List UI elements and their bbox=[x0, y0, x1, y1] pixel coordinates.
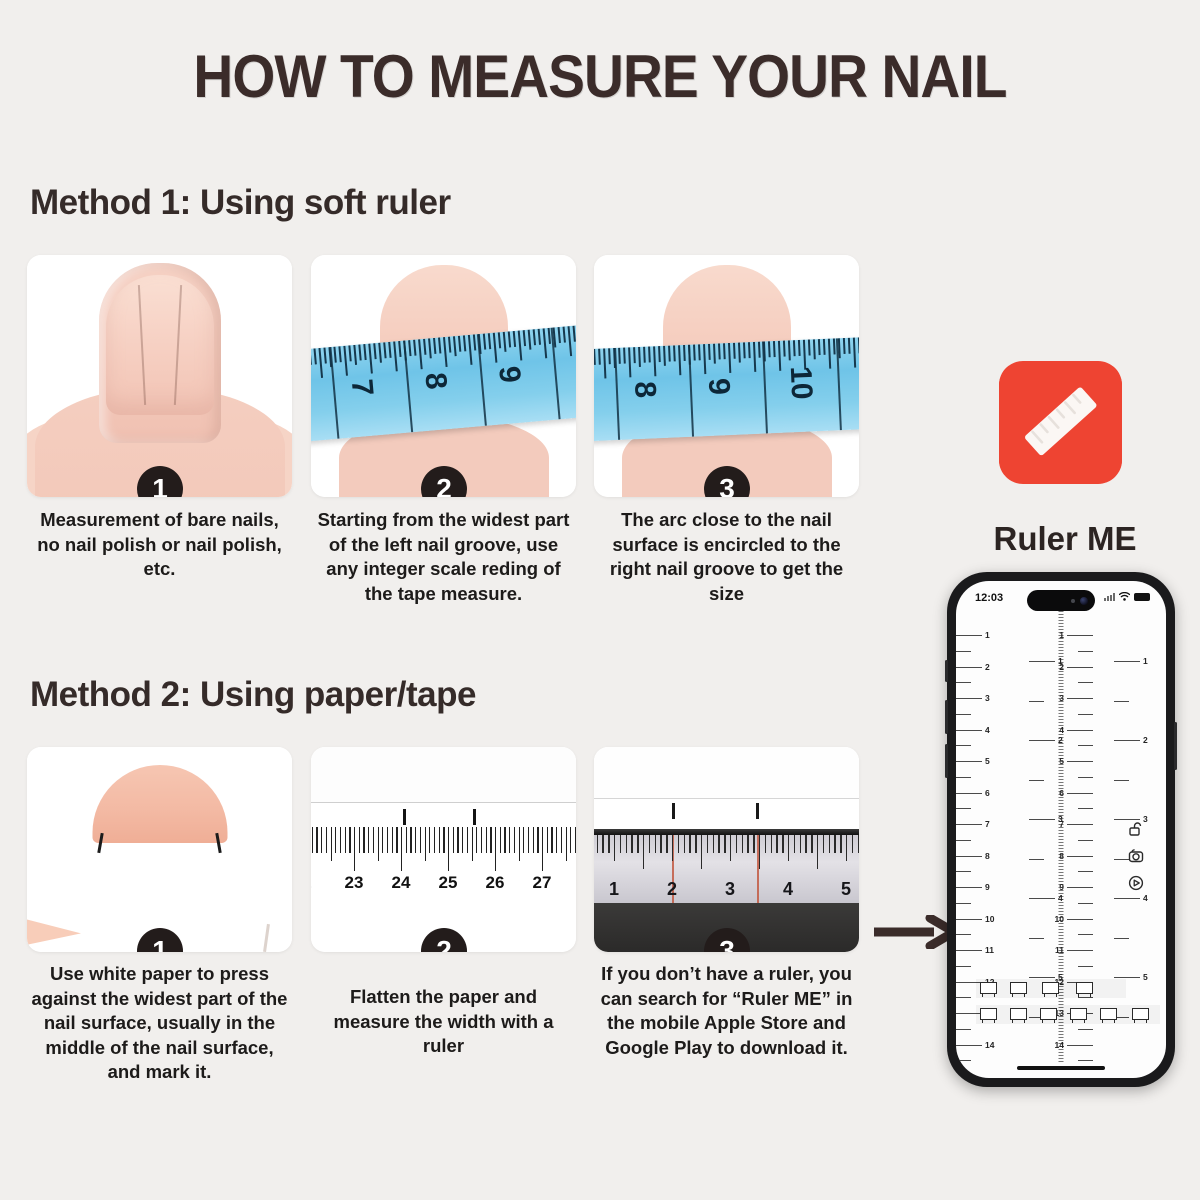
method-1-step-2-caption: Starting from the widest part of the lef… bbox=[311, 508, 576, 606]
nail-plate bbox=[106, 275, 214, 415]
phone-tool-icons bbox=[1128, 821, 1144, 891]
ruler-number: 23 bbox=[345, 873, 364, 893]
bare-nail-photo bbox=[27, 255, 292, 497]
tape-number: 11 bbox=[856, 363, 859, 396]
ruler-number: 1 bbox=[609, 879, 619, 900]
finger-corner bbox=[27, 918, 81, 946]
ruler-number: 4 bbox=[783, 879, 793, 900]
status-bar-time: 12:03 bbox=[975, 592, 1003, 604]
ruler-number: 7 bbox=[985, 819, 990, 829]
cellular-signal-icon bbox=[1104, 593, 1115, 601]
ruler-number: 3 bbox=[725, 879, 735, 900]
page-title: HOW TO MEASURE YOUR NAIL bbox=[48, 42, 1152, 111]
phone-mockup: 12:03 1234567891011121314 1234567891 bbox=[947, 572, 1175, 1087]
camera-icon[interactable] bbox=[1128, 848, 1144, 864]
paper-ruler-photo: 22324252627 bbox=[311, 747, 576, 952]
ruler-number: 9 bbox=[985, 882, 990, 892]
battery-icon bbox=[1134, 593, 1150, 601]
method-2-step-1-caption: Use white paper to press against the wid… bbox=[27, 962, 292, 1085]
ruler-number: 1 bbox=[1059, 630, 1064, 640]
ruler-number: 24 bbox=[392, 873, 411, 893]
ruler-number: 26 bbox=[486, 873, 505, 893]
ruler-number: 9 bbox=[1059, 882, 1064, 892]
tape-number: 7 bbox=[344, 378, 379, 398]
measurement-chip[interactable] bbox=[980, 1008, 997, 1020]
metal-ruler-photo: 12345 bbox=[594, 747, 859, 952]
ruler-number: 27 bbox=[533, 873, 552, 893]
tape-number: 10 bbox=[783, 366, 818, 401]
measurement-chip-row-2 bbox=[976, 1005, 1160, 1024]
measurement-chip[interactable] bbox=[1010, 982, 1027, 994]
ruler-number: 4 bbox=[1143, 893, 1148, 903]
tape-number: 9 bbox=[701, 377, 736, 395]
nail-on-paper-photo bbox=[27, 747, 292, 952]
front-camera-icon bbox=[1080, 597, 1088, 605]
method-1-step-3-caption: The arc close to the nail surface is enc… bbox=[594, 508, 859, 606]
paper-mark-right bbox=[473, 809, 476, 825]
ruler-me-app-icon[interactable] bbox=[993, 355, 1128, 490]
tape-number: 9 bbox=[491, 365, 526, 385]
ruler-number: 4 bbox=[1059, 725, 1064, 735]
ruler-number: 1 bbox=[1143, 656, 1148, 666]
ruler-number: 2 bbox=[985, 662, 990, 672]
ruler-number: 3 bbox=[985, 693, 990, 703]
finger-tip bbox=[99, 263, 221, 443]
ruler-number: 5 bbox=[841, 879, 851, 900]
phone-screen: 12:03 1234567891011121314 1234567891 bbox=[956, 581, 1166, 1078]
app-name-label: Ruler ME bbox=[960, 520, 1170, 558]
ruler-number: 3 bbox=[1059, 693, 1064, 703]
blue-tape-measure: 891011 bbox=[594, 337, 859, 442]
measurement-chip[interactable] bbox=[1010, 1008, 1027, 1020]
measurement-chip[interactable] bbox=[1076, 982, 1093, 994]
ruler-number: 1 bbox=[985, 630, 990, 640]
method-2-step-3-image: 12345 3 bbox=[594, 747, 859, 952]
method-2-step-3-caption: If you don’t have a ruler, you can searc… bbox=[594, 962, 859, 1060]
ruler-number: 5 bbox=[1143, 972, 1148, 982]
volume-down-button[interactable] bbox=[945, 744, 948, 778]
wifi-icon bbox=[1119, 592, 1130, 601]
paper-mark-right bbox=[756, 803, 759, 819]
method-1-step-3-image: 891011 3 bbox=[594, 255, 859, 497]
tape-measure-start-photo: 78910 bbox=[311, 255, 576, 497]
ruler-number: 2 bbox=[667, 879, 677, 900]
tape-number: 8 bbox=[417, 371, 452, 391]
nail-imprint bbox=[92, 765, 227, 843]
blue-tape-measure: 78910 bbox=[311, 324, 576, 442]
ruler-number: 8 bbox=[1059, 851, 1064, 861]
ruler-number: 6 bbox=[1059, 788, 1064, 798]
method-2-step-2-image: 22324252627 2 bbox=[311, 747, 576, 952]
play-icon[interactable] bbox=[1128, 875, 1144, 891]
measurement-chip[interactable] bbox=[1132, 1008, 1149, 1020]
ruler-number: 2 bbox=[1058, 735, 1063, 745]
measurement-chip[interactable] bbox=[1042, 982, 1059, 994]
ruler-number: 8 bbox=[985, 851, 990, 861]
method-1-step-1-image: 1 bbox=[27, 255, 292, 497]
ruler-number: 10 bbox=[985, 914, 994, 924]
ruler-number: 4 bbox=[1058, 893, 1063, 903]
measurement-chip-row-1 bbox=[976, 979, 1126, 998]
measurement-chip[interactable] bbox=[980, 982, 997, 994]
ruler-number: 2 bbox=[311, 873, 312, 893]
method-2-heading: Method 2: Using paper/tape bbox=[30, 675, 476, 715]
ruler-number: 1 bbox=[1058, 656, 1063, 666]
sensor-dot-icon bbox=[1071, 599, 1075, 603]
method-1-step-2-image: 78910 2 bbox=[311, 255, 576, 497]
ruler-number: 11 bbox=[985, 945, 994, 955]
paper-sheet bbox=[311, 747, 576, 803]
ruler-number: 14 bbox=[1055, 1040, 1064, 1050]
tape-measure-wrap-photo: 891011 bbox=[594, 255, 859, 497]
ruler-number: 11 bbox=[1055, 945, 1064, 955]
status-bar-indicators bbox=[1104, 592, 1150, 601]
unlock-icon[interactable] bbox=[1128, 821, 1144, 837]
measurement-chip[interactable] bbox=[1100, 1008, 1117, 1020]
ruler-number: 4 bbox=[985, 725, 990, 735]
method-1-step-1-caption: Measurement of bare nails, no nail polis… bbox=[27, 508, 292, 582]
paper-edge bbox=[263, 924, 270, 952]
method-2-step-2-caption: Flatten the paper and measure the width … bbox=[311, 985, 576, 1059]
paper-mark-left bbox=[403, 809, 406, 825]
power-button[interactable] bbox=[1174, 722, 1177, 770]
ruler-number: 2 bbox=[1143, 735, 1148, 745]
ruler-number: 3 bbox=[1058, 814, 1063, 824]
ruler-number: 14 bbox=[985, 1040, 994, 1050]
measurement-chip[interactable] bbox=[1070, 1008, 1087, 1020]
mute-switch[interactable] bbox=[945, 660, 948, 682]
tape-number: 10 bbox=[572, 349, 576, 385]
ruler-number: 5 bbox=[985, 756, 990, 766]
method-2-step-1-image: 1 bbox=[27, 747, 292, 952]
dynamic-island bbox=[1027, 590, 1095, 611]
infographic-page: HOW TO MEASURE YOUR NAIL Method 1: Using… bbox=[0, 0, 1200, 1200]
tape-number: 8 bbox=[627, 381, 662, 399]
ruler-number: 25 bbox=[439, 873, 458, 893]
volume-up-button[interactable] bbox=[945, 700, 948, 734]
paper-mark-left bbox=[672, 803, 675, 819]
ruler-number: 6 bbox=[985, 788, 990, 798]
ruler-number: 10 bbox=[1055, 914, 1064, 924]
paper-sheet bbox=[594, 747, 859, 799]
measurement-chip[interactable] bbox=[1040, 1008, 1057, 1020]
home-indicator[interactable] bbox=[1017, 1066, 1105, 1070]
method-1-heading: Method 1: Using soft ruler bbox=[30, 183, 451, 223]
ruler-number: 5 bbox=[1059, 756, 1064, 766]
